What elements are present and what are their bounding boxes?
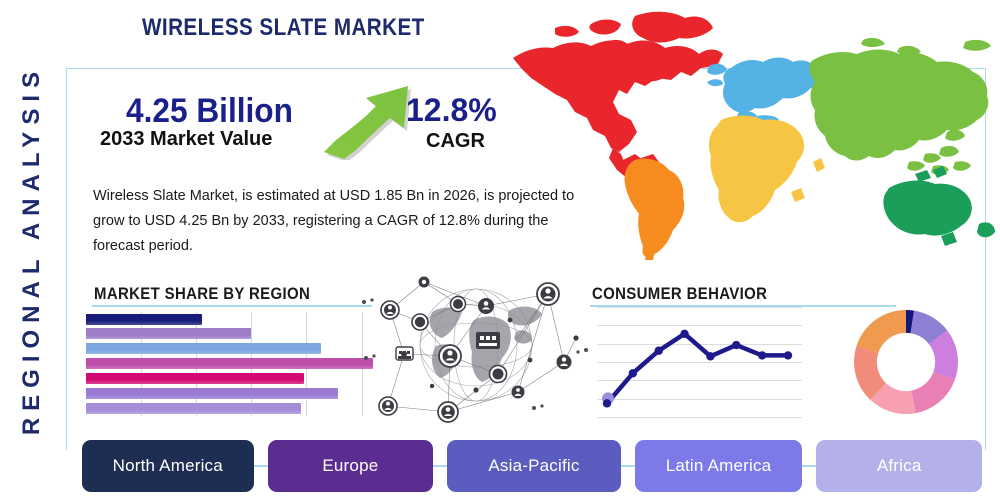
kpi-row: 4.25 Billion 2033 Market Value 12.8% CAG… <box>96 92 516 154</box>
market-share-bar-chart <box>86 312 376 416</box>
region-button-europe[interactable]: Europe <box>268 440 434 492</box>
region-connector <box>621 465 635 467</box>
global-network-icon <box>358 266 594 424</box>
cagr-label: CAGR <box>426 130 485 153</box>
side-label-text: REGIONAL ANALYSIS <box>18 65 46 435</box>
consumer-behavior-line-chart <box>597 307 802 417</box>
bar-chart-bar <box>86 388 338 399</box>
page-title: WIRELESS SLATE MARKET <box>142 14 425 42</box>
market-value: 4.25 Billion <box>126 92 293 131</box>
node-icon <box>419 277 430 288</box>
market-value-label: 2033 Market Value <box>100 128 272 151</box>
bar-chart-bar <box>86 343 321 354</box>
donut-chart <box>852 308 960 416</box>
donut-segment <box>857 310 906 353</box>
bar-chart-bar <box>86 358 373 369</box>
consumer-behavior-heading: CONSUMER BEHAVIOR <box>592 284 767 304</box>
donut-segment <box>911 372 954 413</box>
bar-chart-bar <box>86 314 202 325</box>
market-share-heading: MARKET SHARE BY REGION <box>94 284 310 304</box>
cagr-value: 12.8% <box>406 92 497 129</box>
side-label: REGIONAL ANALYSIS <box>10 40 54 460</box>
bar-chart-bar <box>86 403 301 414</box>
region-connector <box>254 465 268 467</box>
region-button-bar[interactable]: North AmericaEuropeAsia-PacificLatin Ame… <box>82 440 982 492</box>
market-share-rule <box>92 305 372 307</box>
region-connector <box>433 465 447 467</box>
line-chart-series <box>597 307 802 417</box>
world-map-icon <box>495 2 1000 264</box>
region-connector <box>802 465 816 467</box>
region-button-latin-america[interactable]: Latin America <box>635 440 803 492</box>
bar-chart-bar <box>86 328 251 339</box>
region-button-asia-pacific[interactable]: Asia-Pacific <box>447 440 620 492</box>
bar-chart-bar <box>86 373 304 384</box>
region-button-north-america[interactable]: North America <box>82 440 254 492</box>
region-button-africa[interactable]: Africa <box>816 440 982 492</box>
infographic-root: REGIONAL ANALYSIS WIRELESS SLATE MARKET … <box>0 0 1000 500</box>
